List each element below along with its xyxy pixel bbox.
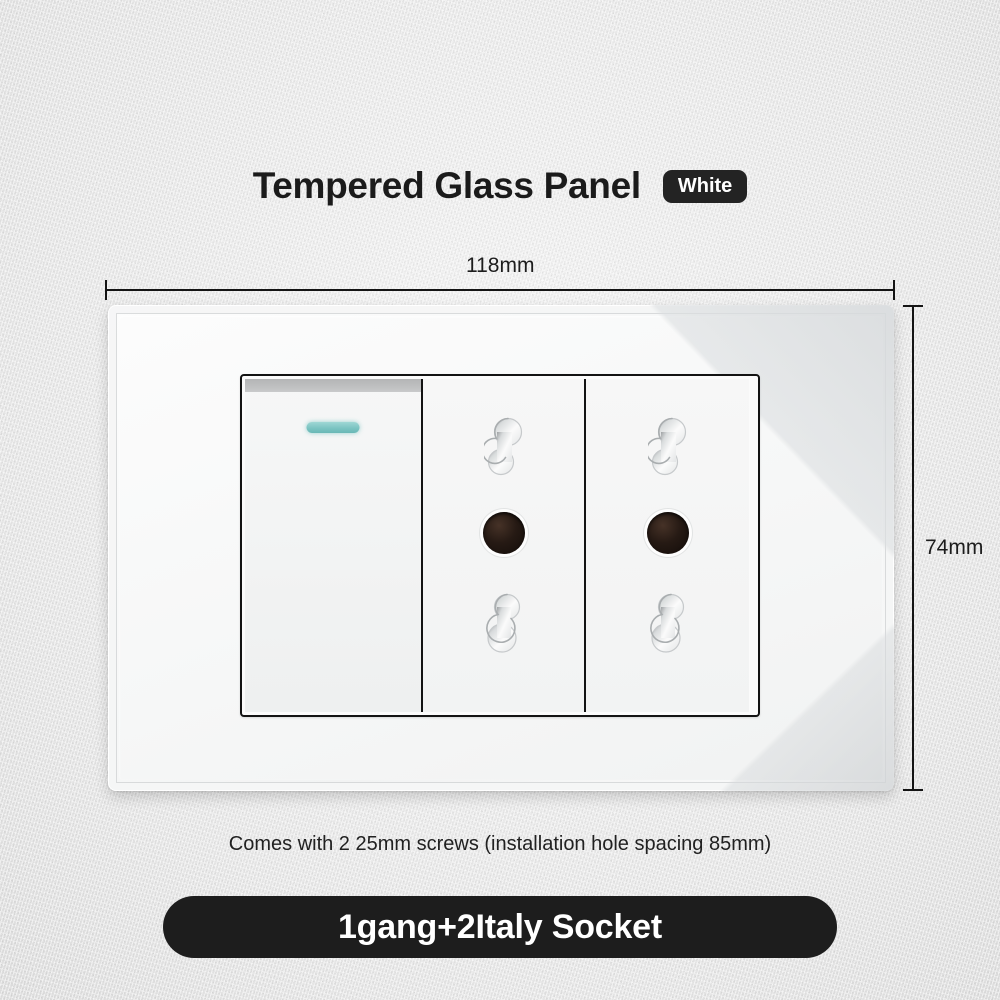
height-dimension-line (912, 305, 914, 791)
socket-pin-hole-icon (648, 415, 688, 483)
header: Tempered Glass Panel White (0, 160, 1000, 212)
socket-earth-hole-icon (483, 512, 525, 554)
width-dimension-line (105, 289, 895, 291)
product-name-pill: 1gang+2Italy Socket (163, 896, 837, 958)
height-dimension-label: 74mm (925, 536, 983, 560)
screw-note: Comes with 2 25mm screws (installation h… (0, 833, 1000, 856)
module-rocker-switch[interactable] (245, 379, 423, 712)
width-dimension-label: 118mm (466, 254, 534, 278)
color-variant-badge: White (663, 170, 747, 203)
module-italy-socket-2[interactable] (586, 379, 749, 712)
module-frame (240, 374, 760, 717)
led-indicator-icon (307, 422, 360, 433)
product-name-label: 1gang+2Italy Socket (338, 908, 662, 947)
page-title: Tempered Glass Panel (253, 165, 641, 207)
socket-pin-hole-icon (648, 590, 688, 658)
module-italy-socket-1[interactable] (423, 379, 586, 712)
rocker-switch-face[interactable] (245, 379, 421, 712)
socket-pin-hole-icon (484, 415, 524, 483)
socket-earth-hole-icon (647, 512, 689, 554)
rocker-switch-top-strip (245, 379, 421, 392)
socket-pin-hole-icon (484, 590, 524, 658)
